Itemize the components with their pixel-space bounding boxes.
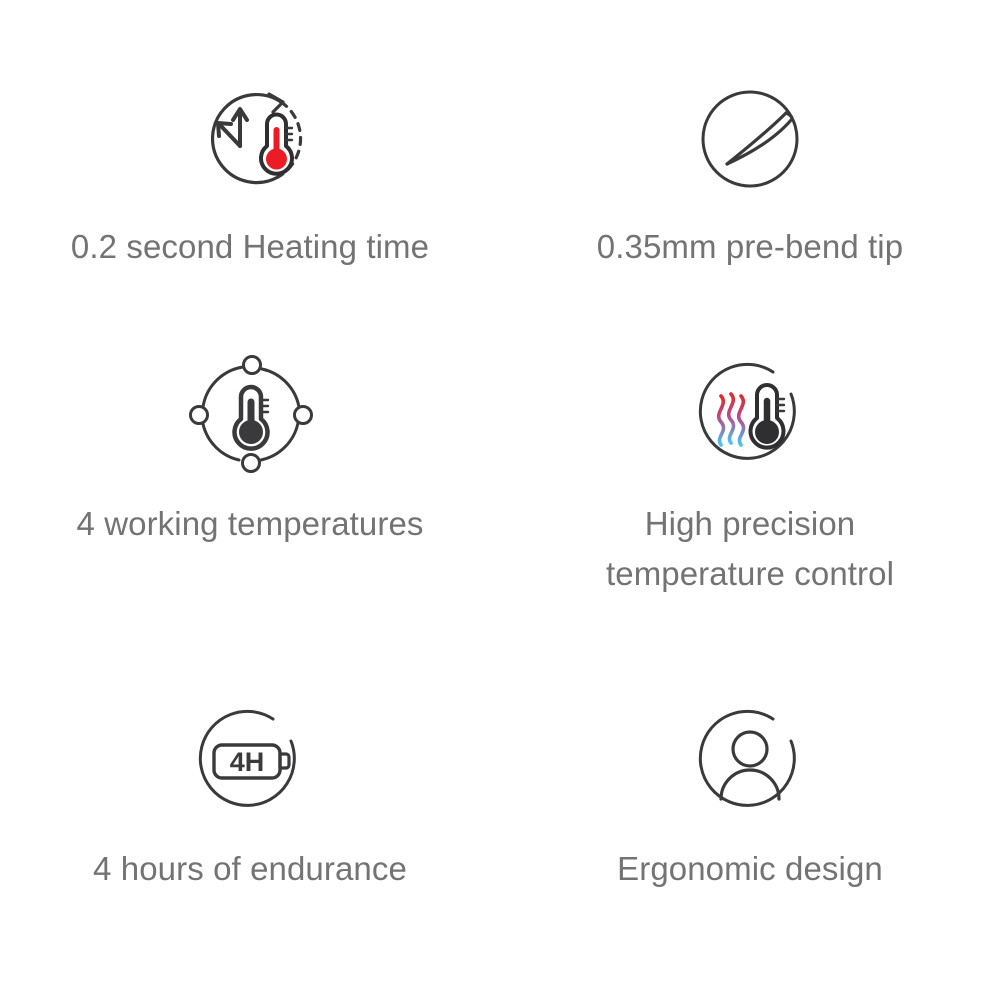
battery-endurance-icon: 4H (185, 700, 315, 822)
feature-item-ergonomic-design: Ergonomic design (500, 700, 1000, 894)
pre-bend-tip-icon (685, 78, 815, 200)
feature-label-endurance: 4 hours of endurance (15, 844, 485, 894)
feature-item-heating-time: 0.2 second Heating time (0, 78, 500, 272)
feature-label-heating-time: 0.2 second Heating time (15, 222, 485, 272)
feature-item-endurance: 4H 4 hours of endurance (0, 700, 500, 894)
feature-grid: 0.2 second Heating time 0.35mm pre-bend … (0, 0, 1000, 1000)
working-temperatures-icon (185, 353, 315, 475)
ergonomic-person-icon (685, 700, 815, 822)
feature-item-pre-bend-tip: 0.35mm pre-bend tip (500, 78, 1000, 272)
feature-label-pre-bend-tip: 0.35mm pre-bend tip (515, 222, 985, 272)
feature-label-working-temperatures: 4 working temperatures (15, 499, 485, 549)
temperature-control-icon (685, 353, 815, 475)
feature-item-working-temperatures: 4 working temperatures (0, 353, 500, 549)
feature-label-temperature-control: High precision temperature control (515, 499, 985, 599)
feature-label-ergonomic-design: Ergonomic design (515, 844, 985, 894)
heating-time-icon (185, 78, 315, 200)
battery-capacity-text: 4H (230, 747, 265, 777)
feature-item-temperature-control: High precision temperature control (500, 353, 1000, 599)
